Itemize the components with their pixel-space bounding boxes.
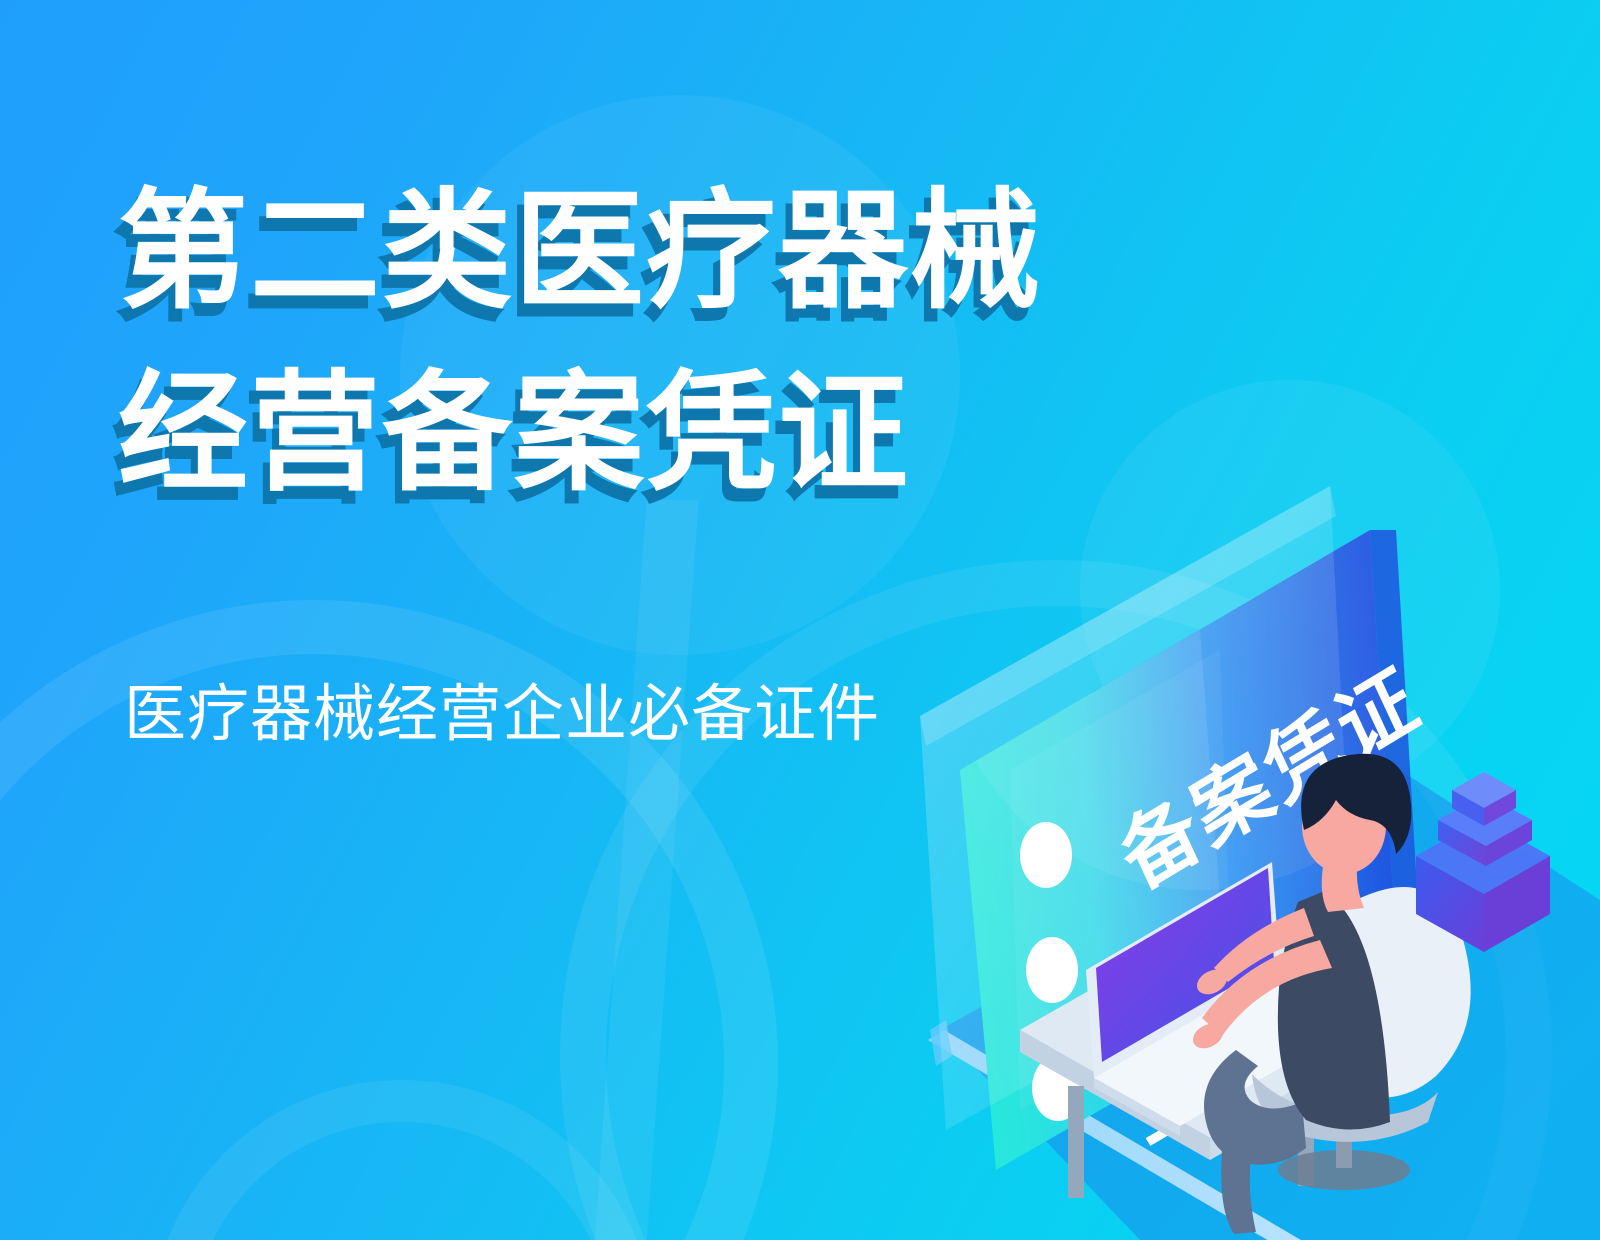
subtitle-text: 医疗器械经营企业必备证件 (124, 678, 880, 752)
isometric-illustration: 备案凭证 (900, 470, 1600, 1240)
headline-line-2: 经营备案凭证 (118, 358, 1042, 508)
headline-block: 第二类医疗器械 经营备案凭证 (118, 176, 1042, 508)
desk-leg-left (1068, 1086, 1084, 1198)
background-ring-small (150, 1080, 654, 1240)
headline-line-1: 第二类医疗器械 (118, 176, 1042, 326)
poster-canvas: 第二类医疗器械 经营备案凭证 医疗器械经营企业必备证件 (0, 0, 1600, 1240)
background-stem-shape (593, 500, 698, 1240)
